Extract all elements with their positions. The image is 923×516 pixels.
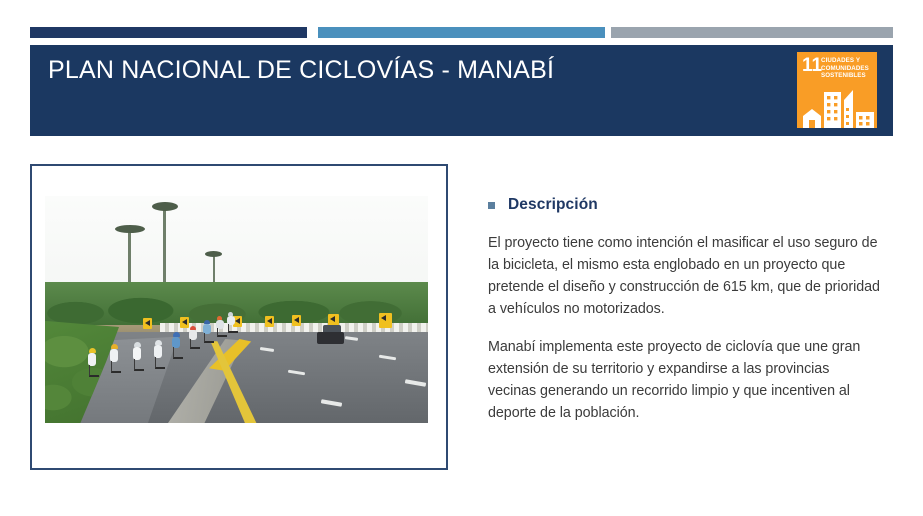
chevron-sign-4: [265, 316, 274, 327]
page-title: PLAN NACIONAL DE CICLOVÍAS - MANABÍ: [48, 56, 554, 85]
bullet-square-icon: [488, 202, 495, 209]
description-heading: Descripción: [508, 196, 598, 214]
description-column: Descripción El proyecto tiene como inten…: [488, 196, 880, 440]
sdg-badge-number: 11: [802, 56, 822, 75]
palm-trunk-right: [163, 208, 166, 294]
sdg-badge-label: CIUDADES Y COMUNIDADES SOSTENIBLES: [821, 57, 875, 80]
palm-crown-right: [152, 202, 178, 211]
palm-crown-left: [115, 225, 145, 233]
description-heading-row: Descripción: [488, 196, 880, 214]
top-bar-gap-1: [307, 27, 318, 38]
top-accent-bars: [30, 27, 893, 38]
photo-truck-body: [317, 332, 344, 344]
top-bar-dark-segment: [30, 27, 307, 38]
chevron-sign-5: [292, 315, 301, 326]
city-buildings-icon: [797, 86, 877, 128]
sdg-11-badge: 11 CIUDADES Y COMUNIDADES SOSTENIBLES: [797, 52, 877, 128]
top-bar-gray-segment: [611, 27, 893, 38]
top-bar-blue-segment: [318, 27, 605, 38]
palm-crown-far: [205, 251, 222, 257]
palm-trunk-far: [213, 254, 215, 284]
chevron-sign-1: [143, 318, 152, 329]
description-paragraph-1: El proyecto tiene como intención el masi…: [488, 232, 880, 320]
description-paragraph-2: Manabí implementa este proyecto de ciclo…: [488, 336, 880, 424]
chevron-sign-7: [379, 313, 392, 328]
chevron-sign-2: [180, 317, 189, 328]
cycling-highway-photo: [45, 196, 428, 423]
